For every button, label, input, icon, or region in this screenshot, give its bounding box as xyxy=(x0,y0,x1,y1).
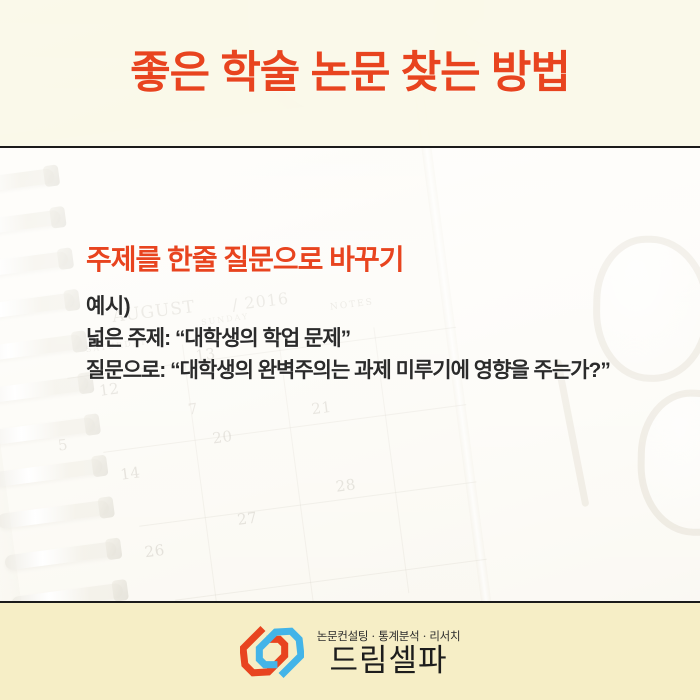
brand-tagline: 논문컨설팅 · 통계분석 · 리서치 xyxy=(317,628,461,644)
dreamselpa-logo-icon xyxy=(240,620,304,684)
example-label: 예시) xyxy=(86,291,686,323)
main-content: 주제를 한줄 질문으로 바꾸기 예시) 넓은 주제: “대학생의 학업 문제” … xyxy=(0,148,700,601)
header-band: 좋은 학술 논문 찾는 방법 xyxy=(0,0,700,148)
research-question-line: 질문으로: “대학생의 완벽주의는 과제 미루기에 영향을 주는가?” xyxy=(86,355,686,387)
infographic-card: 12 13 14 20 21 26 27 28 SATURDAY SUNDAY … xyxy=(0,0,700,700)
section-subtitle: 주제를 한줄 질문으로 바꾸기 xyxy=(86,238,403,278)
brand-text-block: 논문컨설팅 · 통계분석 · 리서치 드림셀파 xyxy=(317,628,461,678)
broad-topic-line: 넓은 주제: “대학생의 학업 문제” xyxy=(86,323,686,355)
footer-band: 논문컨설팅 · 통계분석 · 리서치 드림셀파 xyxy=(0,601,700,700)
page-title: 좋은 학술 논문 찾는 방법 xyxy=(130,51,570,95)
brand-name: 드림셀파 xyxy=(317,645,461,678)
example-block: 예시) 넓은 주제: “대학생의 학업 문제” 질문으로: “대학생의 완벽주의… xyxy=(86,291,686,387)
